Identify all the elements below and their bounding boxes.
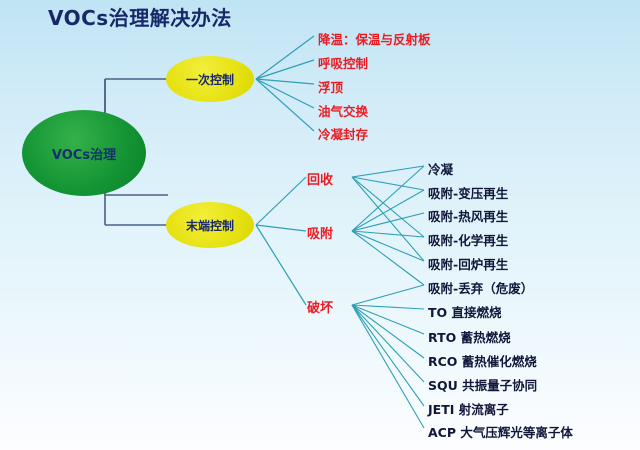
node-root-label: VOCs治理	[52, 144, 116, 163]
category-destruction[interactable]: 破坏	[307, 297, 333, 316]
leaf-item[interactable]: 浮顶	[318, 77, 343, 96]
node-branch-primary-label: 一次控制	[186, 71, 234, 88]
fan-recovery	[352, 166, 424, 261]
fan-endofpipe	[256, 177, 306, 305]
leaf-item[interactable]: 降温：保温与反射板	[318, 29, 431, 48]
fan-primary	[256, 36, 314, 131]
leaf-item[interactable]: 吸附-化学再生	[428, 230, 508, 249]
fan-destruction	[352, 285, 424, 428]
leaf-item[interactable]: 吸附-变压再生	[428, 183, 508, 202]
node-root-vocs[interactable]: VOCs治理	[22, 110, 146, 196]
leaf-item[interactable]: JETI 射流离子	[428, 399, 509, 418]
category-adsorption[interactable]: 吸附	[307, 223, 333, 242]
leaf-item[interactable]: RCO 蓄热催化燃烧	[428, 351, 537, 370]
leaf-item[interactable]: RTO 蓄热燃烧	[428, 327, 511, 346]
leaf-item[interactable]: TO 直接燃烧	[428, 302, 502, 321]
leaf-item[interactable]: 吸附-回炉再生	[428, 254, 508, 273]
leaf-item[interactable]: SQU 共振量子协同	[428, 375, 537, 394]
page-title: VOCs治理解决办法	[48, 2, 232, 31]
category-recovery[interactable]: 回收	[307, 169, 333, 188]
leaf-item[interactable]: 冷凝	[428, 159, 453, 178]
leaf-item[interactable]: ACP 大气压辉光等离子体	[428, 422, 573, 441]
leaf-item[interactable]: 油气交换	[318, 101, 368, 120]
mindmap-canvas: VOCs治理解决办法 VOCs治理 一次控制 末端控制 降温：保温与反射板 呼吸…	[0, 0, 640, 450]
leaf-item[interactable]: 冷凝封存	[318, 124, 368, 143]
leaf-item[interactable]: 吸附-丢弃（危废）	[428, 278, 533, 297]
leaf-item[interactable]: 呼吸控制	[318, 53, 368, 72]
node-branch-end-of-pipe[interactable]: 末端控制	[166, 202, 254, 248]
leaf-item[interactable]: 吸附-热风再生	[428, 206, 508, 225]
node-branch-endofpipe-label: 末端控制	[186, 217, 234, 234]
node-branch-primary-control[interactable]: 一次控制	[166, 56, 254, 102]
